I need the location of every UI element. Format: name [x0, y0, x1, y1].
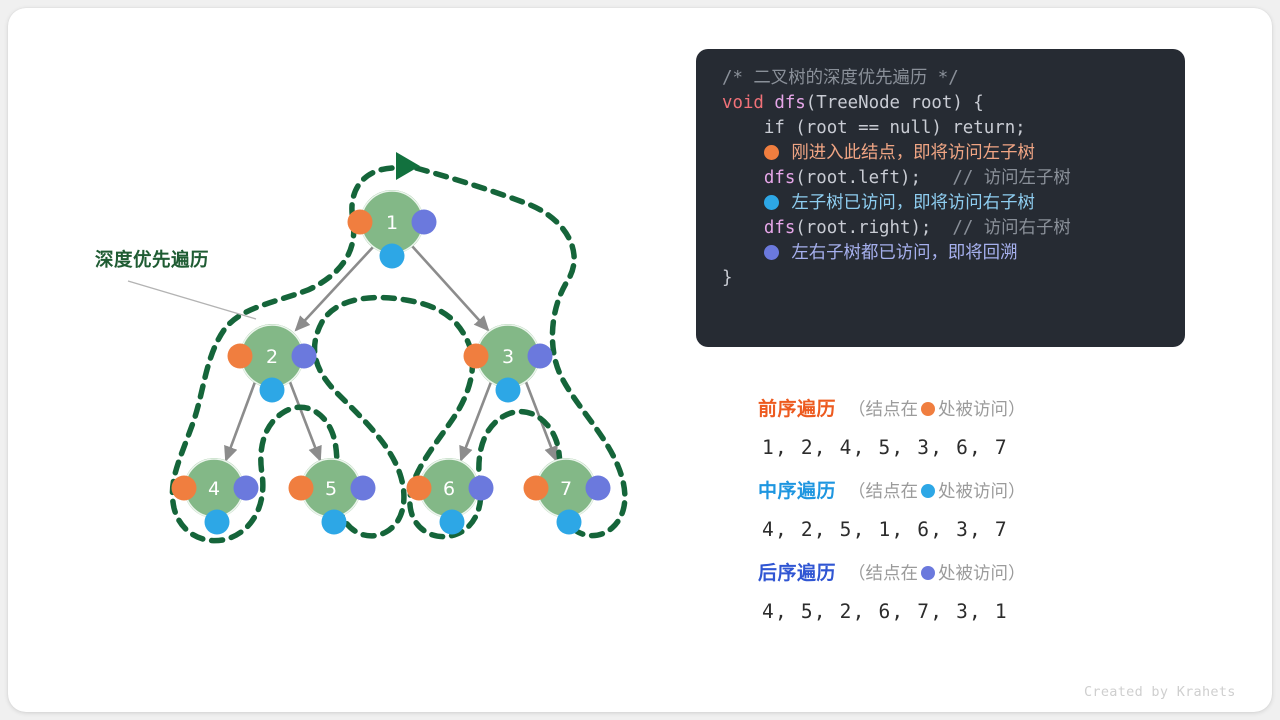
node-dot-post	[469, 476, 494, 501]
node-dot-post	[412, 210, 437, 235]
node-dot-post	[292, 344, 317, 369]
result-note-suffix: 处被访问）	[938, 399, 1026, 419]
code-fn-name: dfs	[764, 93, 806, 113]
pre-order-dot-icon	[921, 402, 935, 416]
code-fn-dfs-left: dfs	[722, 168, 795, 188]
code-line-if: if (root == null) return;	[696, 116, 1185, 141]
result-sequence-inorder: 4, 2, 5, 1, 6, 3, 7	[758, 506, 1178, 553]
code-snippet-panel: /* 二叉树的深度优先遍历 */ void dfs(TreeNode root)…	[696, 49, 1185, 347]
code-line-annotation-post: 左右子树都已访问，即将回溯	[696, 241, 1185, 266]
result-sequence-postorder: 4, 5, 2, 6, 7, 3, 1	[758, 588, 1178, 635]
node-label: 1	[386, 212, 398, 234]
node-dot-in	[380, 244, 405, 269]
annotation-pre-text: 刚进入此结点，即将访问左子树	[791, 143, 1034, 163]
play-triangle-icon	[396, 152, 420, 180]
result-title-inorder: 中序遍历	[758, 481, 836, 502]
result-header: 前序遍历（结点在处被访问）	[758, 394, 1178, 424]
post-order-dot-icon	[921, 566, 935, 580]
result-note-suffix: 处被访问）	[938, 481, 1026, 501]
code-line-comment: /* 二叉树的深度优先遍历 */	[696, 66, 1185, 91]
code-dfs-left-rest: (root.left);	[795, 168, 952, 188]
tree-node-3[interactable]: 3	[464, 324, 553, 403]
tree-node-7[interactable]: 7	[524, 458, 611, 535]
in-order-dot-icon	[764, 195, 779, 210]
node-label: 3	[502, 346, 514, 368]
post-order-dot-icon	[764, 245, 779, 260]
result-note-suffix: 处被访问）	[938, 563, 1026, 583]
node-dot-pre	[289, 476, 314, 501]
node-dot-pre	[524, 476, 549, 501]
node-dot-post	[586, 476, 611, 501]
node-label: 5	[325, 478, 337, 500]
result-note-prefix: （结点在	[848, 563, 918, 583]
node-dot-in	[205, 510, 230, 535]
tree-node-5[interactable]: 5	[289, 458, 376, 535]
result-note-prefix: （结点在	[848, 481, 918, 501]
credit-text: Created by Krahets	[1084, 684, 1236, 700]
result-group-inorder: 中序遍历（结点在处被访问） 4, 2, 5, 1, 6, 3, 7	[758, 476, 1178, 553]
content-card: 1 2 3	[8, 8, 1272, 712]
node-dot-post	[351, 476, 376, 501]
node-label: 2	[266, 346, 278, 368]
result-header: 中序遍历（结点在处被访问）	[758, 476, 1178, 506]
code-keyword-void: void	[722, 93, 764, 113]
in-order-dot-icon	[921, 484, 935, 498]
node-dot-post	[528, 344, 553, 369]
node-dot-pre	[228, 344, 253, 369]
code-fn-dfs-right: dfs	[722, 218, 795, 238]
code-line-close-brace: }	[696, 266, 1185, 291]
node-dot-pre	[464, 344, 489, 369]
code-comment-right: // 访问右子树	[952, 218, 1070, 238]
node-dot-in	[260, 378, 285, 403]
node-dot-pre	[348, 210, 373, 235]
code-dfs-right-rest: (root.right);	[795, 218, 952, 238]
result-title-postorder: 后序遍历	[758, 563, 836, 584]
result-header: 后序遍历（结点在处被访问）	[758, 558, 1178, 588]
node-dot-in	[496, 378, 521, 403]
tree-node-4[interactable]: 4	[172, 458, 259, 535]
result-title-preorder: 前序遍历	[758, 399, 836, 420]
result-group-preorder: 前序遍历（结点在处被访问） 1, 2, 4, 5, 3, 6, 7	[758, 394, 1178, 471]
code-line-dfs-left: dfs(root.left); // 访问左子树	[696, 166, 1185, 191]
node-dot-pre	[407, 476, 432, 501]
tree-node-2[interactable]: 2	[228, 324, 317, 403]
binary-tree-diagram: 1 2 3	[8, 8, 688, 712]
tree-svg: 1 2 3	[8, 8, 688, 712]
code-line-signature: void dfs(TreeNode root) {	[696, 91, 1185, 116]
dfs-annotation-label: 深度优先遍历	[95, 246, 209, 272]
result-group-postorder: 后序遍历（结点在处被访问） 4, 5, 2, 6, 7, 3, 1	[758, 558, 1178, 635]
code-line-annotation-pre: 刚进入此结点，即将访问左子树	[696, 141, 1185, 166]
code-line-annotation-in: 左子树已访问，即将访问右子树	[696, 191, 1185, 216]
code-comment-text: /* 二叉树的深度优先遍历 */	[722, 68, 959, 88]
node-dot-in	[322, 510, 347, 535]
page-root: 1 2 3	[0, 0, 1280, 720]
traversal-results-panel: 前序遍历（结点在处被访问） 1, 2, 4, 5, 3, 6, 7 中序遍历（结…	[758, 394, 1178, 640]
label-pointer-line	[128, 281, 256, 319]
code-signature-rest: (TreeNode root) {	[806, 93, 984, 113]
pre-order-dot-icon	[764, 145, 779, 160]
node-dot-in	[557, 510, 582, 535]
node-label: 7	[560, 478, 572, 500]
code-line-dfs-right: dfs(root.right); // 访问右子树	[696, 216, 1185, 241]
annotation-in-text: 左子树已访问，即将访问右子树	[791, 193, 1034, 213]
annotation-post-text: 左右子树都已访问，即将回溯	[791, 243, 1017, 263]
node-dot-pre	[172, 476, 197, 501]
node-label: 6	[443, 478, 455, 500]
node-dot-in	[440, 510, 465, 535]
code-comment-left: // 访问左子树	[952, 168, 1070, 188]
result-note-prefix: （结点在	[848, 399, 918, 419]
node-label: 4	[208, 478, 220, 500]
node-dot-post	[234, 476, 259, 501]
result-sequence-preorder: 1, 2, 4, 5, 3, 6, 7	[758, 424, 1178, 471]
